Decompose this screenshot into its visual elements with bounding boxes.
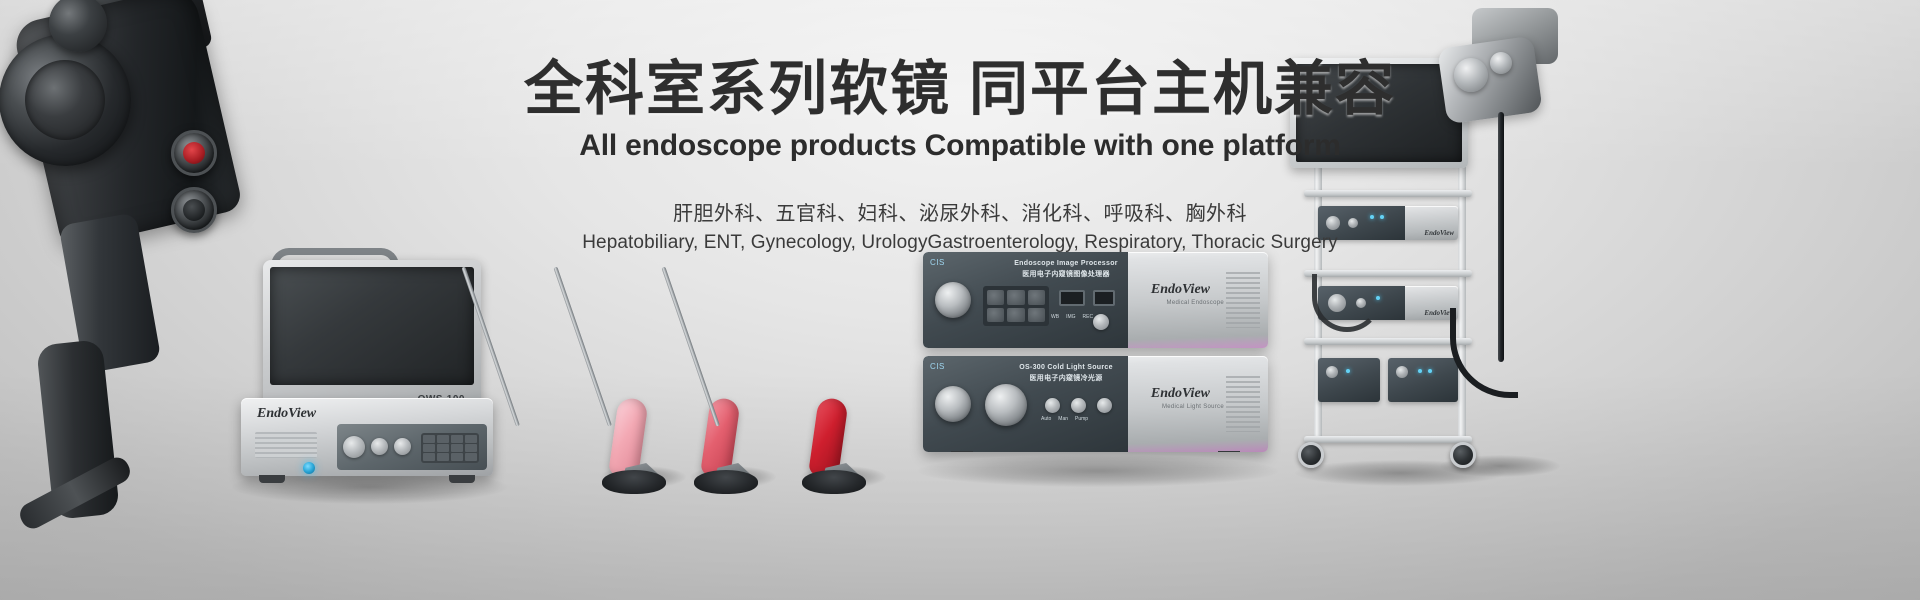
image-processor-tag: CIS bbox=[930, 258, 945, 267]
departments-chinese: 肝胆外科、五官科、妇科、泌尿外科、消化科、呼吸科、胸外科 bbox=[0, 197, 1920, 226]
image-processor-title-cn: 医用电子内窥镜图像处理器 bbox=[1007, 270, 1125, 281]
cart-wheel-left bbox=[1298, 442, 1324, 468]
headline-chinese-part1: 全科室系列软镜 bbox=[524, 56, 951, 122]
monitor-dial-main bbox=[343, 436, 365, 458]
light-source-title-en: OS-300 Cold Light Source bbox=[1007, 363, 1125, 374]
cart-light-cable bbox=[1312, 274, 1382, 332]
monitor-keypad bbox=[421, 433, 479, 463]
cart-module-4-dial bbox=[1396, 366, 1408, 378]
image-processor-video-port bbox=[1059, 290, 1085, 306]
image-processor-usb-port bbox=[1093, 290, 1115, 306]
headline-chinese: 全科室系列软镜同平台主机兼容 bbox=[0, 56, 1920, 122]
light-source-tag: CIS bbox=[930, 362, 945, 371]
light-source-foot-left bbox=[951, 451, 973, 452]
light-source-brightness-dial bbox=[985, 384, 1027, 426]
monitor-dial-secondary bbox=[371, 438, 388, 455]
departments-english: Hepatobiliary, ENT, Gynecology, UrologyG… bbox=[0, 232, 1920, 254]
light-source-brand-sub: Medical Light Source bbox=[1162, 404, 1224, 410]
cart-module-recorder bbox=[1318, 358, 1380, 402]
cart-module-3-dial bbox=[1326, 366, 1338, 378]
image-processor-vents bbox=[1226, 272, 1260, 328]
image-processor-main-dial bbox=[935, 282, 971, 318]
light-source-button-labels: AutoManPump bbox=[1041, 416, 1088, 422]
light-source-pump-button bbox=[1097, 398, 1112, 413]
image-processor-front-panel: CIS Endoscope Image Processor 医用电子内窥镜图像处… bbox=[923, 252, 1128, 348]
image-processor-brand-sub: Medical Endoscope bbox=[1167, 300, 1224, 306]
light-source-title: OS-300 Cold Light Source 医用电子内窥镜冷光源 bbox=[1007, 363, 1125, 384]
monitor-control-panel bbox=[337, 424, 487, 470]
monitor-foot-right bbox=[449, 475, 475, 483]
light-source-manual-button bbox=[1071, 398, 1086, 413]
processor-stack: CIS Endoscope Image Processor 医用电子内窥镜图像处… bbox=[923, 252, 1268, 464]
cart-module-4-led bbox=[1418, 369, 1422, 373]
light-source-foot-right bbox=[1218, 451, 1240, 452]
image-processor-power-button bbox=[1093, 314, 1109, 330]
cart-module-3-led bbox=[1346, 369, 1350, 373]
light-source-front-panel: CIS OS-300 Cold Light Source 医用电子内窥镜冷光源 … bbox=[923, 356, 1128, 452]
light-source-brand: EndoView bbox=[1151, 386, 1210, 402]
forceps-base-3 bbox=[802, 470, 866, 494]
image-processor-unit: CIS Endoscope Image Processor 医用电子内窥镜图像处… bbox=[923, 252, 1268, 348]
light-source-fiber-port bbox=[935, 386, 971, 422]
light-source-auto-button bbox=[1045, 398, 1060, 413]
light-source-vents bbox=[1226, 376, 1260, 432]
scope-tube-curve bbox=[1450, 308, 1518, 398]
monitor-dial-tertiary bbox=[394, 438, 411, 455]
image-processor-title-en: Endoscope Image Processor bbox=[1007, 259, 1125, 270]
headline-chinese-part2: 同平台主机兼容 bbox=[969, 56, 1396, 122]
image-processor-brand: EndoView bbox=[1151, 282, 1210, 298]
image-processor-title: Endoscope Image Processor 医用电子内窥镜图像处理器 bbox=[1007, 259, 1125, 280]
image-processor-keypad bbox=[983, 286, 1049, 326]
headline-english: All endoscope products Compatible with o… bbox=[0, 129, 1920, 163]
image-processor-button-labels: WBIMGREC bbox=[1051, 314, 1093, 320]
cart-shelf-4 bbox=[1304, 436, 1472, 443]
cart-wheel-right bbox=[1450, 442, 1476, 468]
light-source-unit: CIS OS-300 Cold Light Source 医用电子内窥镜冷光源 … bbox=[923, 356, 1268, 452]
light-source-title-cn: 医用电子内窥镜冷光源 bbox=[1007, 374, 1125, 385]
forceps-instrument-3 bbox=[716, 258, 856, 480]
banner-text-block: 全科室系列软镜同平台主机兼容 All endoscope products Co… bbox=[0, 56, 1920, 254]
promo-banner: 全科室系列软镜同平台主机兼容 All endoscope products Co… bbox=[0, 0, 1920, 600]
